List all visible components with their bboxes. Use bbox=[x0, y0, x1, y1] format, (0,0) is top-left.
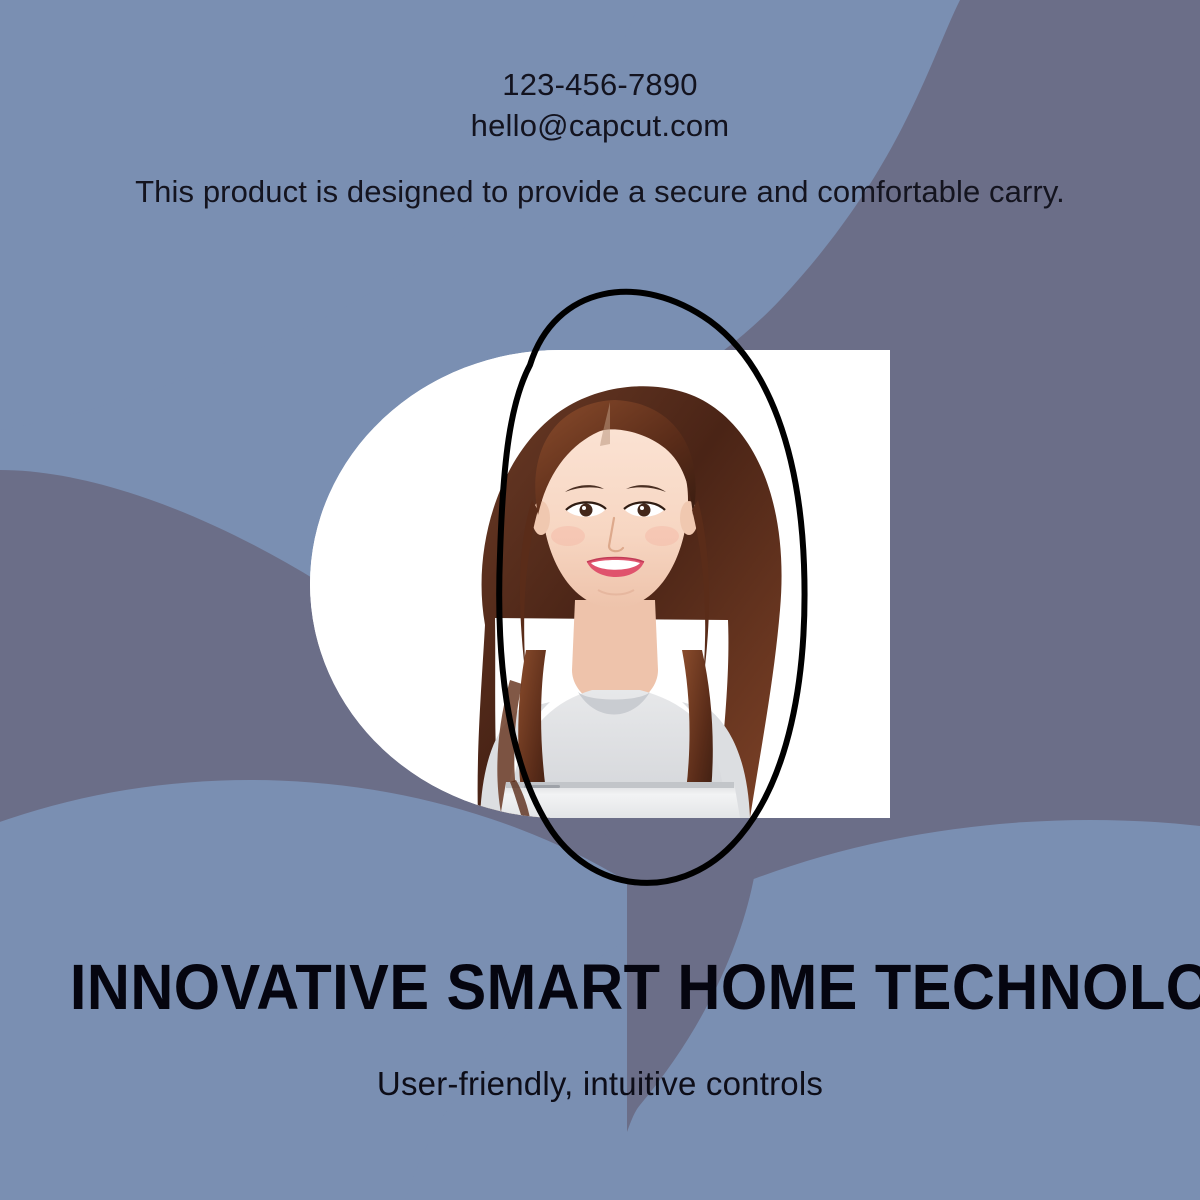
poster-canvas: 123-456-7890 hello@capcut.com This produ… bbox=[0, 0, 1200, 1200]
page-subtitle: User-friendly, intuitive controls bbox=[100, 1062, 1100, 1106]
email-address[interactable]: hello@capcut.com bbox=[0, 105, 1200, 146]
photo-card bbox=[310, 350, 890, 818]
page-title: INNOVATIVE SMART HOME TECHNOLOGY bbox=[70, 952, 1130, 1022]
contact-block: 123-456-7890 hello@capcut.com bbox=[0, 64, 1200, 146]
phone-number[interactable]: 123-456-7890 bbox=[0, 64, 1200, 105]
content-layer: 123-456-7890 hello@capcut.com This produ… bbox=[0, 0, 1200, 1200]
tagline-text: This product is designed to provide a se… bbox=[96, 168, 1104, 215]
portrait-photo bbox=[310, 350, 890, 818]
